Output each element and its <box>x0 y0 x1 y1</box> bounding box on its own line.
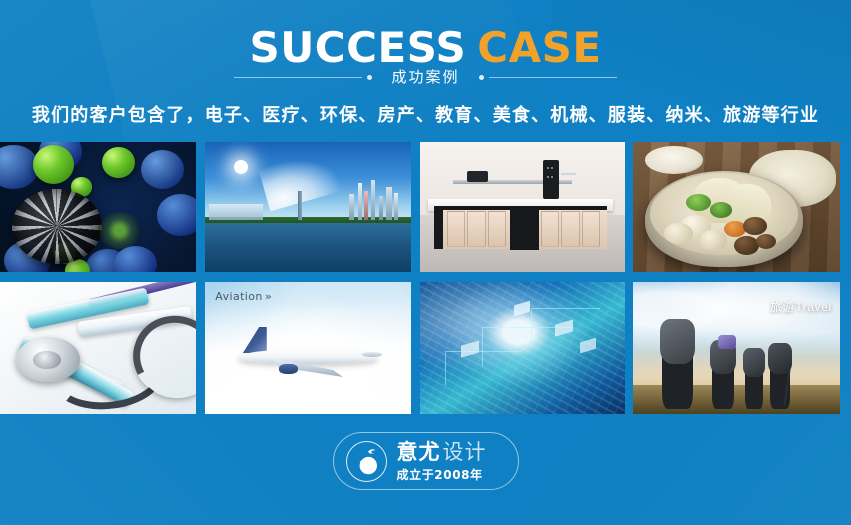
divider-dot-right <box>479 75 484 80</box>
brand-name-bold: 意尤 <box>397 440 441 464</box>
banner-footer: 意尤设计 成立于2008年 <box>0 414 851 525</box>
subtitle-row: 成功案例 <box>0 70 851 85</box>
gallery-item-environmental[interactable] <box>205 142 411 272</box>
title-main: SUCCESS <box>249 23 466 72</box>
success-case-banner: SUCCESSCASE 成功案例 我们的客户包含了，电子、医疗、环保、房产、教育… <box>0 0 851 525</box>
divider-right <box>489 77 617 78</box>
food-hotpot-image <box>633 142 840 272</box>
case-gallery-grid: Aviation» <box>0 142 851 414</box>
electronics-circuit-image <box>420 282 625 414</box>
gallery-item-medical[interactable] <box>0 282 196 414</box>
divider-left <box>234 77 362 78</box>
banner-header: SUCCESSCASE 成功案例 我们的客户包含了，电子、医疗、环保、房产、教育… <box>0 0 851 142</box>
title-accent: CASE <box>477 23 601 72</box>
gallery-item-electronics[interactable] <box>420 282 625 414</box>
tagline: 我们的客户包含了，电子、医疗、环保、房产、教育、美食、机械、服装、纳米、旅游等行… <box>0 101 851 127</box>
aviation-chevron-icon: » <box>265 290 273 303</box>
medical-image <box>0 282 196 414</box>
gallery-item-laboratory[interactable] <box>420 142 625 272</box>
divider-dot-left <box>367 75 372 80</box>
gallery-item-aviation[interactable]: Aviation» <box>205 282 411 414</box>
gallery-item-nanotechnology[interactable] <box>0 142 196 272</box>
environmental-image <box>205 142 411 272</box>
nanotechnology-image <box>0 142 196 272</box>
aviation-label-text: Aviation <box>215 290 262 303</box>
gallery-item-food[interactable] <box>633 142 840 272</box>
subtitle-cn: 成功案例 <box>377 70 473 85</box>
brand-name: 意尤设计 <box>397 442 487 463</box>
gallery-item-travel[interactable]: 旅游Travel <box>633 282 840 414</box>
brand-since: 成立于2008年 <box>397 469 487 481</box>
travel-label-cn: 旅游 <box>770 300 795 314</box>
travel-label: 旅游Travel <box>770 298 832 315</box>
brand-name-light: 设计 <box>443 440 487 464</box>
brand-text: 意尤设计 成立于2008年 <box>397 442 487 481</box>
bird-mark-icon <box>346 441 387 482</box>
travel-label-en: Travel <box>795 300 832 314</box>
page-title: SUCCESSCASE <box>0 27 851 69</box>
brand-logo[interactable]: 意尤设计 成立于2008年 <box>333 432 519 490</box>
aviation-label: Aviation» <box>215 290 272 303</box>
laboratory-furniture-image <box>420 142 625 272</box>
